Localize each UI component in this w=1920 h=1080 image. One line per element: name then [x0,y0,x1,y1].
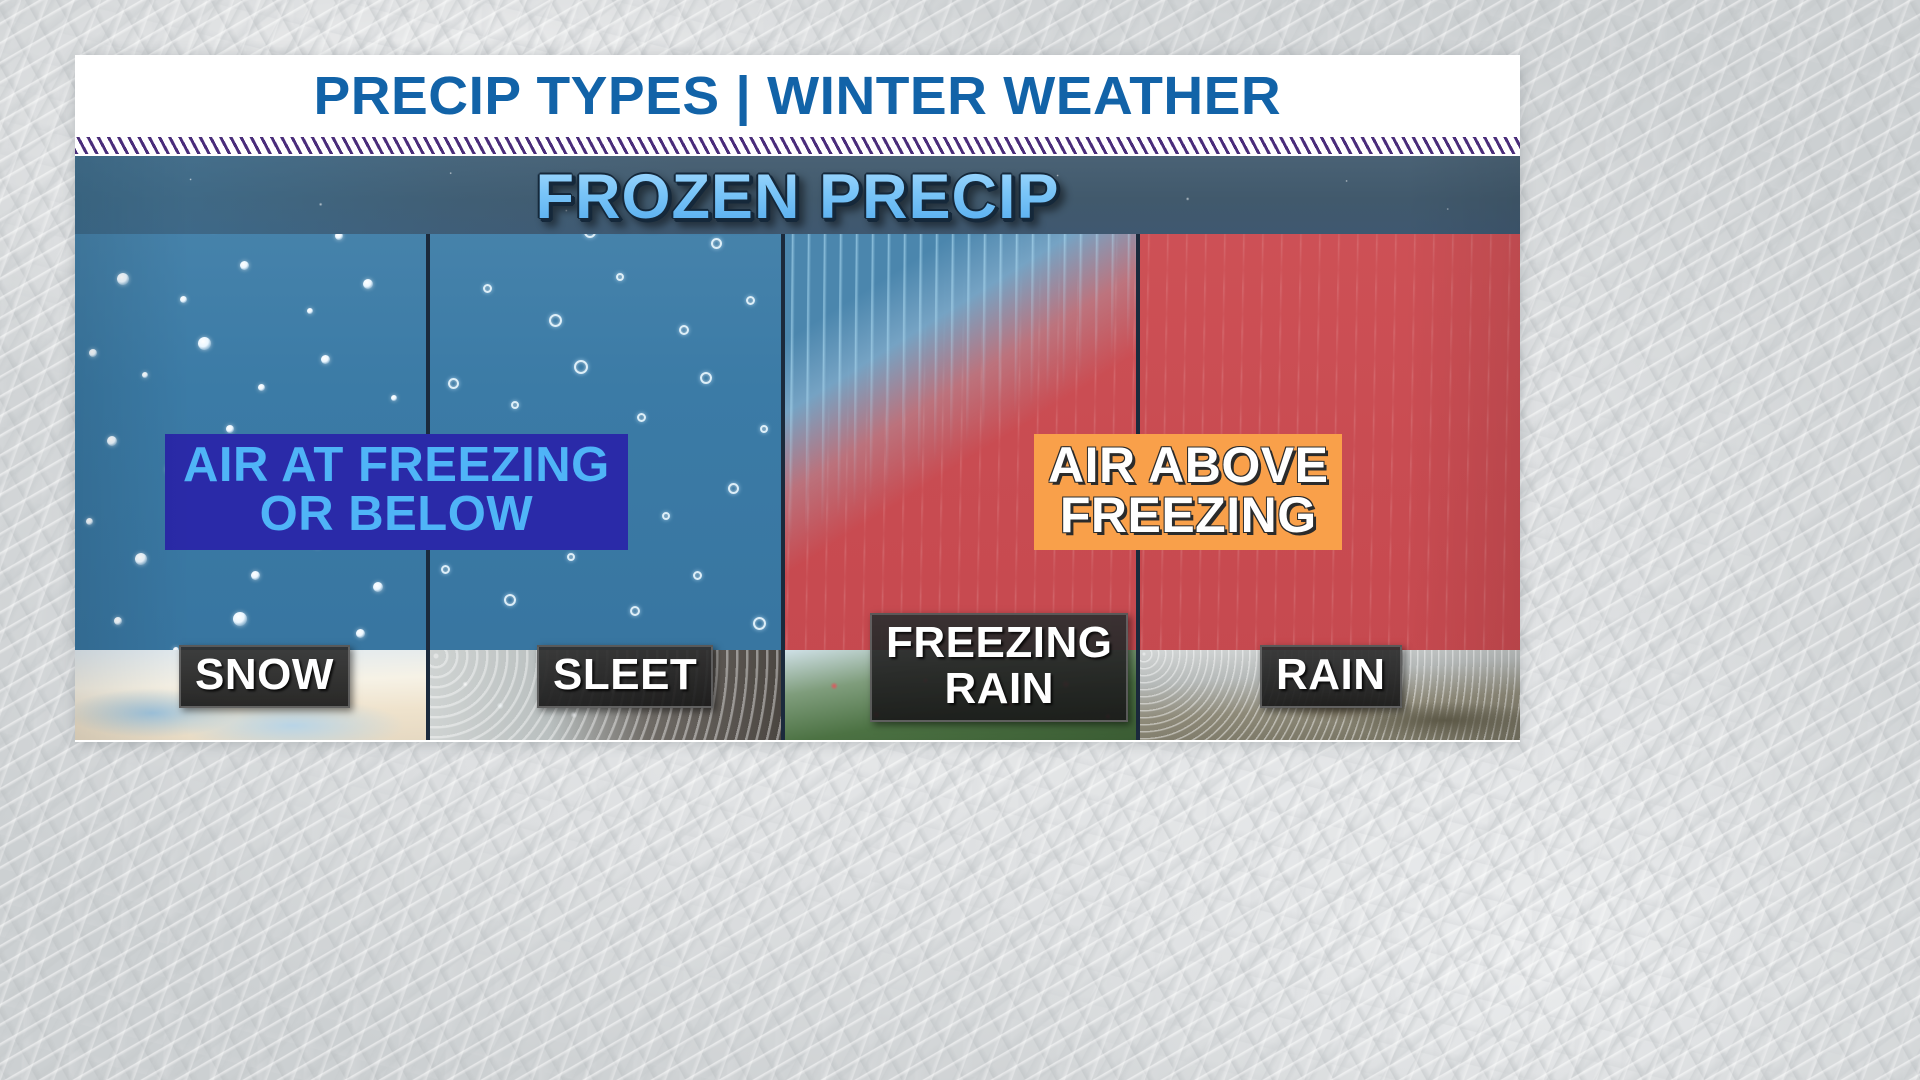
badge-freezing-rain-line2: RAIN [886,666,1112,712]
callout-air-above-freezing-line2: FREEZING [1048,490,1328,540]
striped-divider [75,137,1520,156]
callout-air-above-freezing: AIR ABOVE FREEZING [1034,434,1342,550]
badge-rain: RAIN [1260,645,1402,708]
badge-freezing-rain-line1: FREEZING [886,620,1112,666]
page-title: PRECIP TYPES | WINTER WEATHER [314,65,1282,127]
badge-snow-label: SNOW [195,652,334,698]
callout-air-above-freezing-line1: AIR ABOVE [1048,440,1328,490]
callout-air-at-freezing-line2: OR BELOW [183,490,610,539]
frozen-precip-title: FROZEN PRECIP [75,160,1520,234]
badge-sleet-label: SLEET [553,652,697,698]
badge-freezing-rain: FREEZING RAIN [870,613,1128,722]
badge-snow: SNOW [179,645,350,708]
callout-air-at-freezing: AIR AT FREEZING OR BELOW [165,434,628,550]
weather-graphic-card: PRECIP TYPES | WINTER WEATHER [75,55,1520,742]
title-bar: PRECIP TYPES | WINTER WEATHER [75,55,1520,137]
badge-sleet: SLEET [537,645,713,708]
callout-air-at-freezing-line1: AIR AT FREEZING [183,441,610,490]
badge-rain-label: RAIN [1276,652,1386,698]
precip-scene: FROZEN PRECIP AIR AT FREEZING OR BELOW A… [75,156,1520,740]
